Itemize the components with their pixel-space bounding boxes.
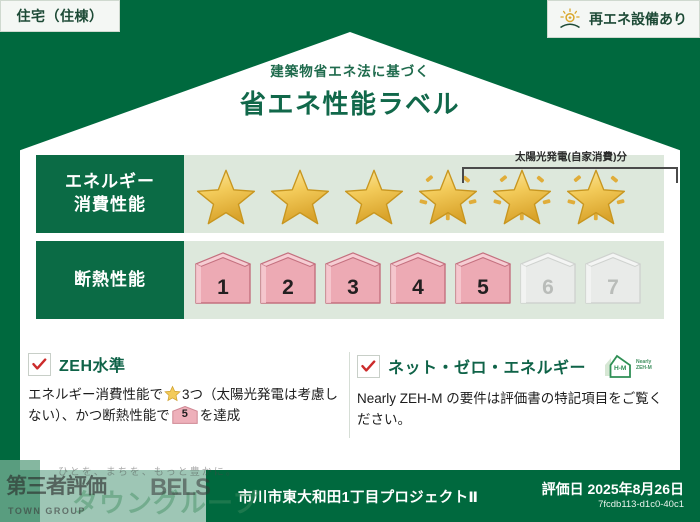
insulation-level-scale: 1 2 3 4 5	[184, 251, 644, 309]
energy-label-line1: エネルギー	[65, 171, 155, 194]
star-icon	[264, 161, 336, 227]
energy-label-line2: 消費性能	[74, 194, 146, 217]
project-name: 市川市東大和田1丁目プロジェクトⅡ	[238, 486, 478, 507]
building-type-label: 住宅（住棟）	[17, 6, 104, 26]
zeh-text-part1: エネルギー消費性能で	[28, 387, 163, 402]
insulation-level-value: 4	[412, 276, 424, 309]
evaluation-id: 7fcdb113-d1c0-40c1	[598, 499, 684, 510]
energy-stars-area: 太陽光発電(自家消費)分	[184, 155, 664, 233]
insulation-level-value: 2	[282, 276, 294, 309]
features-section: ZEH水準 エネルギー消費性能で3つ（太陽光発電は考慮しない）、かつ断熱性能で5…	[28, 352, 672, 431]
house-level-icon: 5	[172, 406, 198, 424]
building-type-tag: 住宅（住棟）	[0, 0, 120, 32]
ratings-section: エネルギー 消費性能	[36, 155, 664, 327]
insulation-level-item: 3	[322, 251, 384, 309]
energy-performance-row: エネルギー 消費性能	[36, 155, 664, 233]
zeh-m-logo-subtext: Nearly ZEH-M	[636, 360, 652, 372]
svg-text:H-M: H-M	[614, 365, 627, 372]
evaluation-date-label: 評価日	[542, 481, 584, 497]
energy-performance-label: エネルギー 消費性能	[36, 155, 184, 233]
insulation-performance-row: 断熱性能 1 2 3 4	[36, 241, 664, 319]
sun-icon	[558, 8, 582, 30]
zeh-m-house-logo: H-M Nearly ZEH-M	[600, 352, 652, 380]
feature-zeh-header: ZEH水準	[28, 352, 343, 376]
feature-zeh-title: ZEH水準	[59, 352, 126, 376]
insulation-level-item: 5	[452, 251, 514, 309]
insulation-level-item: 1	[192, 251, 254, 309]
feature-net-zero-energy: ネット・ゼロ・エネルギー H-M Nearly ZEH-M Nearly ZEH…	[357, 352, 672, 431]
insulation-level-value: 7	[607, 276, 619, 309]
evaluation-date: 評価日 2025年8月26日	[542, 479, 684, 499]
star-icon	[164, 385, 181, 402]
insulation-level-value: 5	[477, 276, 489, 309]
feature-zeh-standard: ZEH水準 エネルギー消費性能で3つ（太陽光発電は考慮しない）、かつ断熱性能で5…	[28, 352, 343, 431]
solar-bracket	[462, 167, 678, 183]
insulation-levels-area: 1 2 3 4 5	[184, 241, 664, 319]
insulation-level-item: 4	[387, 251, 449, 309]
solar-caption: 太陽光発電(自家消費)分	[446, 149, 696, 164]
feature-zeh-body: エネルギー消費性能で3つ（太陽光発電は考慮しない）、かつ断熱性能で5を達成	[28, 385, 343, 427]
feature-divider	[349, 352, 350, 438]
insulation-level-item: 6	[517, 251, 579, 309]
insulation-label-text: 断熱性能	[74, 269, 146, 292]
insulation-performance-label: 断熱性能	[36, 241, 184, 319]
zeh-m-sub-line2: ZEH-M	[636, 365, 652, 371]
insulation-level-value: 3	[347, 276, 359, 309]
house-level-value: 5	[172, 406, 198, 424]
insulation-level-value: 6	[542, 276, 554, 309]
renewable-energy-label: 再エネ設備あり	[589, 9, 687, 29]
star-icon	[190, 161, 262, 227]
feature-nze-title: ネット・ゼロ・エネルギー	[388, 354, 586, 378]
energy-label-card: 住宅（住棟） 再エネ設備あり 建築物省エネ法に基づく 省エネ性能ラベル エネルギ…	[0, 0, 700, 522]
feature-nze-body: Nearly ZEH-M の要件は評価書の特記項目をご覧ください。	[357, 389, 672, 431]
zeh-text-part3: を達成	[200, 408, 241, 423]
footer-bar: 市川市東大和田1丁目プロジェクトⅡ 評価日 2025年8月26日 7fcdb11…	[0, 470, 700, 522]
insulation-level-item: 2	[257, 251, 319, 309]
star-icon	[338, 161, 410, 227]
renewable-energy-badge: 再エネ設備あり	[547, 0, 700, 38]
insulation-level-item: 7	[582, 251, 644, 309]
title-subtitle: 建築物省エネ法に基づく	[20, 60, 680, 80]
title-block: 建築物省エネ法に基づく 省エネ性能ラベル	[20, 60, 680, 121]
check-icon	[28, 353, 51, 376]
page-title: 省エネ性能ラベル	[20, 84, 680, 121]
feature-nze-header: ネット・ゼロ・エネルギー H-M Nearly ZEH-M	[357, 352, 672, 380]
insulation-level-value: 1	[217, 276, 229, 309]
check-icon	[357, 355, 380, 378]
evaluation-date-value: 2025年8月26日	[587, 481, 684, 497]
